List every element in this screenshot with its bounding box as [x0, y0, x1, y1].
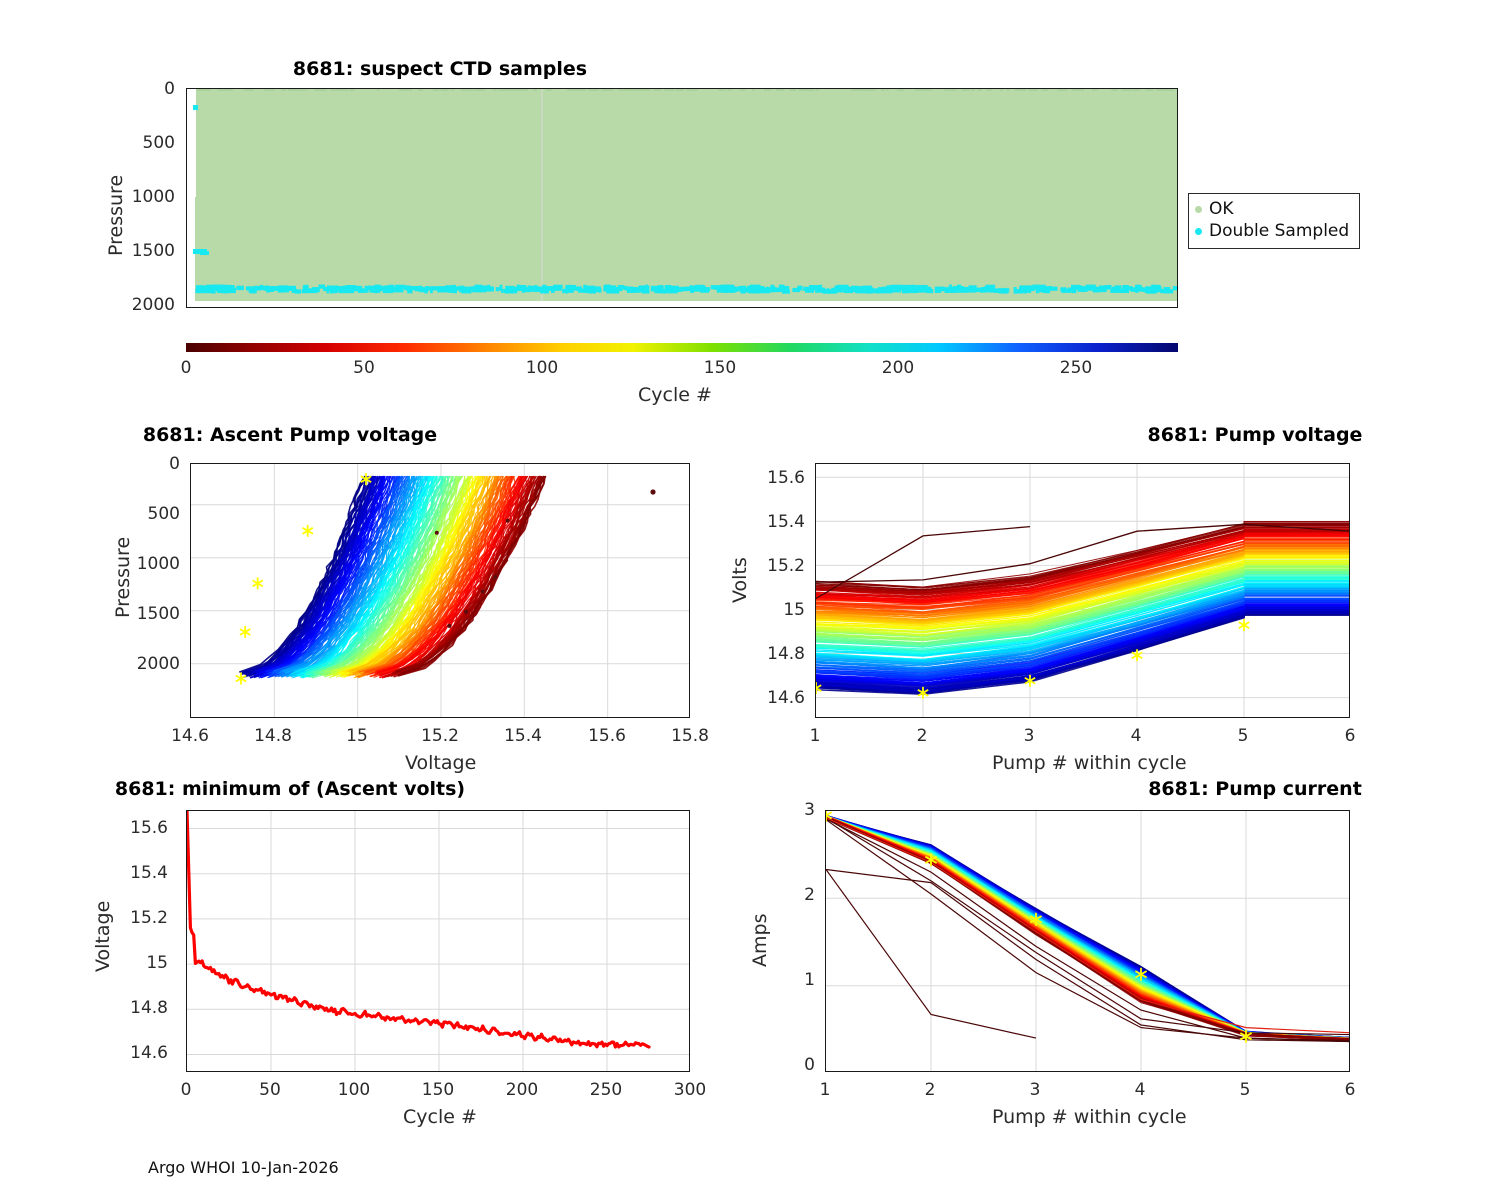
ctd-double-sampled-marker	[1094, 288, 1098, 292]
pumpcurrent-title: 8681: Pump current	[675, 778, 1500, 800]
ascent-xtick-146: 14.6	[160, 726, 220, 746]
ctd-double-sampled-marker	[583, 285, 587, 289]
minvolts-xlabel: Cycle #	[403, 1106, 477, 1128]
minvolts-ytick-146: 14.6	[98, 1043, 168, 1063]
figure-footer: Argo WHOI 10-Jan-2026	[148, 1158, 339, 1177]
ctd-double-sampled-marker	[645, 285, 647, 289]
ctd-double-sampled-marker	[882, 287, 887, 291]
minvolts-gridlines	[187, 811, 690, 1072]
ctd-surface-speckle	[498, 89, 503, 91]
ascent-stray-point	[435, 531, 439, 535]
ctd-double-sampled-marker	[798, 286, 803, 290]
figure-canvas: 8681: suspect CTD samples 0 500 1000 150…	[0, 0, 1500, 1200]
ctd-surface-speckle	[493, 89, 497, 91]
ctd-ylabel: Pressure	[105, 175, 127, 256]
ctd-double-sampled-marker	[891, 288, 894, 292]
ctd-double-sampled-marker	[369, 288, 376, 292]
minvolts-ytick-148: 14.8	[98, 998, 168, 1018]
pumpcurrent-xtick-4: 4	[1110, 1080, 1170, 1100]
ctd-surface-speckle	[886, 89, 888, 91]
ctd-surface-speckle	[218, 89, 225, 91]
minvolts-xtick-300: 300	[660, 1080, 720, 1100]
panel-pump-voltage: 8681: Pump voltage 15.6 15.4 15.2 15 14.…	[745, 418, 1500, 758]
ctd-double-sampled-marker	[562, 289, 568, 293]
ctd-surface-speckle	[1161, 89, 1167, 91]
ctd-double-sampled-marker	[202, 288, 213, 292]
ctd-surface-speckle	[246, 89, 254, 91]
ctd-double-sampled-marker	[1081, 288, 1085, 292]
ctd-surface-speckle	[264, 89, 267, 91]
ctd-double-sampled-marker	[1016, 289, 1022, 293]
ctd-surface-speckle	[634, 89, 640, 91]
ctd-surface-speckle	[418, 89, 423, 91]
ctd-double-sampled-marker	[382, 286, 386, 290]
ctd-surface-speckle	[1129, 89, 1133, 91]
ctd-surface-speckle	[640, 89, 647, 91]
ctd-surface-speckle	[799, 89, 803, 91]
ctd-surface-speckle	[1072, 89, 1079, 91]
ctd-double-sampled-marker	[747, 287, 750, 291]
pumpvolt-ytick-148: 14.8	[735, 644, 805, 664]
pumpvolt-asterisk-marker	[1239, 619, 1249, 631]
ctd-xtick-200: 200	[868, 358, 928, 378]
pumpvolt-xlabel: Pump # within cycle	[992, 752, 1187, 774]
ctd-double-sampled-marker	[912, 285, 917, 289]
ctd-double-sampled-marker	[661, 289, 671, 293]
ctd-colorbar-gradient	[186, 343, 1178, 352]
pumpvolt-xtick-6: 6	[1320, 726, 1380, 746]
ctd-surface-speckle	[946, 89, 953, 91]
ctd-double-sampled-marker	[1131, 288, 1138, 292]
ctd-double-sampled-marker	[413, 286, 420, 290]
ctd-surface-speckle	[623, 89, 628, 91]
ctd-plot-svg	[187, 89, 1178, 308]
pumpvolt-plot-svg	[816, 464, 1350, 718]
ascent-xtick-158: 15.8	[660, 726, 720, 746]
panel-ctd-title: 8681: suspect CTD samples	[0, 58, 1190, 80]
pumpcurrent-ytick-2: 2	[755, 885, 815, 905]
minvolts-ylabel: Voltage	[92, 901, 114, 972]
ctd-double-sampled-marker	[990, 288, 1001, 292]
legend-double-sampled-marker-icon	[1195, 228, 1202, 235]
ctd-surface-speckle	[676, 89, 684, 91]
ctd-double-sampled-marker	[684, 287, 691, 291]
ascent-ytick-0: 0	[118, 454, 180, 474]
ctd-double-sampled-marker	[1145, 286, 1153, 290]
ctd-surface-speckle	[654, 89, 661, 91]
ctd-double-sampled-marker	[309, 288, 313, 292]
ctd-double-sampled-marker	[1060, 287, 1066, 291]
ctd-surface-speckle	[444, 89, 446, 91]
ctd-left-gap-b	[187, 197, 192, 301]
ctd-double-sampled-marker	[292, 289, 297, 293]
ctd-surface-speckle	[399, 89, 405, 91]
legend-double-sampled-label: Double Sampled	[1209, 221, 1349, 241]
ctd-double-sampled-marker	[583, 289, 587, 293]
ctd-double-sampled-marker	[1115, 285, 1122, 289]
ctd-colorbar-svg	[186, 342, 1178, 353]
pumpvolt-title: 8681: Pump voltage	[675, 424, 1500, 446]
ctd-double-sampled-marker	[740, 286, 746, 290]
ctd-surface-speckle	[967, 89, 969, 91]
ctd-surface-speckle	[204, 89, 211, 91]
ctd-surface-speckle	[546, 89, 552, 91]
pumpvolt-ylabel: Volts	[729, 557, 751, 603]
ctd-double-sampled-marker	[913, 289, 917, 293]
ctd-surface-speckle	[270, 89, 275, 91]
ascent-ylabel: Pressure	[112, 537, 134, 618]
minvolts-xtick-150: 150	[408, 1080, 468, 1100]
pumpcurrent-curve	[826, 816, 1350, 1038]
pumpcurrent-curves	[826, 816, 1350, 1042]
pumpvolt-ytick-15: 15	[735, 600, 805, 620]
pumpcurrent-xtick-6: 6	[1320, 1080, 1380, 1100]
ctd-double-sampled-marker	[593, 287, 598, 291]
ctd-double-sampled-marker	[566, 285, 576, 289]
pumpvolt-xtick-5: 5	[1213, 726, 1273, 746]
ascent-xtick-152: 15.2	[410, 726, 470, 746]
ctd-ok-mass	[195, 89, 1178, 301]
ctd-surface-speckle	[503, 89, 510, 91]
ctd-surface-speckle	[1021, 89, 1026, 91]
ctd-double-sampled-marker	[236, 286, 244, 290]
ctd-surface-speckle	[764, 89, 771, 91]
minvolts-xtick-200: 200	[492, 1080, 552, 1100]
pumpcurrent-ylabel: Amps	[749, 914, 771, 967]
pumpvolt-ytick-154: 15.4	[735, 512, 805, 532]
ctd-double-sampled-marker	[354, 286, 363, 290]
ctd-surface-speckle	[687, 89, 693, 91]
ctd-surface-speckle	[987, 89, 992, 91]
ctd-double-sampled-marker	[637, 288, 643, 292]
legend-ok-marker-icon	[1195, 206, 1202, 213]
ctd-double-sampled-marker	[855, 289, 863, 293]
ascent-ytick-500: 500	[118, 504, 180, 524]
ctd-surface-speckle	[290, 89, 293, 91]
ctd-double-sampled-marker	[831, 288, 842, 292]
ctd-double-sampled-marker	[1045, 289, 1050, 293]
ctd-xtick-50: 50	[334, 358, 394, 378]
ctd-double-sampled-marker	[766, 287, 769, 291]
ctd-surface-speckle	[802, 89, 808, 91]
minvolts-series-line	[187, 811, 649, 1047]
ctd-surface-speckle	[351, 89, 355, 91]
ctd-surface-speckle	[404, 89, 412, 91]
ctd-double-sampled-marker	[365, 286, 369, 290]
ascent-outlier-point	[650, 489, 655, 494]
ctd-ytick-0: 0	[110, 79, 175, 99]
ascent-stray-point	[447, 624, 451, 628]
ctd-double-sampled-marker	[430, 289, 433, 293]
ctd-surface-speckle	[1114, 89, 1118, 91]
ctd-double-sampled-marker	[729, 289, 735, 293]
ctd-surface-speckle	[197, 89, 200, 91]
ctd-surface-speckle	[266, 89, 270, 91]
ctd-surface-speckle	[451, 89, 454, 91]
pumpcurrent-ytick-1: 1	[755, 970, 815, 990]
minvolts-ytick-156: 15.6	[98, 818, 168, 838]
ctd-double-sampled-marker	[783, 286, 789, 290]
ascent-asterisk-marker	[252, 577, 262, 589]
legend-ok-label: OK	[1209, 199, 1234, 219]
panel-pump-current: 8681: Pump current 3 2 1 0 Amps 1 2 3	[745, 772, 1500, 1122]
ctd-surface-speckle	[953, 89, 956, 91]
ctd-double-sampled-marker	[957, 285, 961, 289]
ctd-xtick-250: 250	[1046, 358, 1106, 378]
ctd-cyan-cluster-mid2	[200, 251, 209, 255]
ctd-surface-speckle	[777, 89, 781, 91]
ctd-surface-speckle	[1147, 89, 1151, 91]
ctd-surface-speckle	[718, 89, 725, 91]
ctd-surface-speckle	[1134, 89, 1138, 91]
ctd-double-sampled-marker	[312, 287, 319, 291]
ctd-surface-speckle	[897, 89, 904, 91]
ctd-double-sampled-marker	[496, 287, 500, 291]
ctd-double-sampled-marker	[938, 287, 946, 291]
ctd-surface-speckle	[297, 89, 304, 91]
ctd-double-sampled-marker	[405, 286, 410, 290]
ctd-surface-speckle	[1015, 89, 1020, 91]
pumpcurrent-ytick-3: 3	[755, 800, 815, 820]
ctd-double-sampled-marker	[528, 286, 531, 290]
ctd-surface-speckle	[727, 89, 731, 91]
pumpcurrent-anomalous-curve	[826, 820, 1350, 1041]
ctd-surface-speckle	[305, 89, 307, 91]
pumpvolt-ytick-156: 15.6	[735, 468, 805, 488]
ctd-double-sampled-marker	[511, 288, 515, 292]
ctd-double-sampled-marker	[448, 286, 452, 290]
legend-item-double-sampled[interactable]: Double Sampled	[1195, 220, 1351, 242]
ctd-ytick-500: 500	[110, 133, 175, 153]
ctd-double-sampled-marker	[1173, 286, 1178, 290]
ctd-xtick-150: 150	[690, 358, 750, 378]
ctd-surface-speckle	[790, 89, 795, 91]
ctd-double-sampled-marker	[700, 289, 709, 293]
ctd-surface-speckle	[281, 89, 286, 91]
ctd-double-sampled-marker	[946, 289, 951, 293]
pumpcurrent-xtick-2: 2	[900, 1080, 960, 1100]
ctd-surface-speckle	[1092, 89, 1098, 91]
ctd-double-sampled-marker	[249, 289, 255, 293]
ctd-surface-speckle	[522, 89, 529, 91]
ctd-surface-speckle	[915, 89, 917, 91]
panel-min-ascent-volts: 8681: minimum of (Ascent volts) 15.6 15.…	[0, 772, 740, 1122]
ctd-surface-speckle	[592, 89, 597, 91]
ctd-surface-speckle	[854, 89, 860, 91]
ctd-double-sampled-marker	[195, 289, 201, 293]
ctd-double-sampled-marker	[281, 288, 283, 292]
ctd-double-sampled-marker	[609, 286, 612, 290]
ctd-surface-speckle	[461, 89, 466, 91]
ctd-surface-speckle	[977, 89, 979, 91]
ctd-double-sampled-marker	[691, 289, 694, 293]
ctd-double-sampled-marker	[437, 286, 448, 290]
ctd-surface-speckle	[752, 89, 754, 91]
ctd-double-sampled-marker	[658, 285, 664, 289]
ctd-double-sampled-marker	[808, 287, 815, 291]
ascent-stray-point	[464, 610, 468, 614]
ctd-surface-speckle	[604, 89, 612, 91]
ctd-surface-speckle	[1151, 89, 1154, 91]
ctd-double-sampled-marker	[452, 288, 457, 292]
ctd-double-sampled-marker	[718, 285, 727, 289]
ctd-double-sampled-marker	[578, 288, 581, 292]
ascent-xtick-148: 14.8	[243, 726, 303, 746]
ctd-double-sampled-marker	[1001, 289, 1008, 293]
ctd-surface-speckle	[477, 89, 480, 91]
ctd-double-sampled-marker	[551, 289, 555, 293]
ctd-surface-speckle	[664, 89, 668, 91]
ctd-surface-speckle	[808, 89, 813, 91]
pumpcurrent-xtick-5: 5	[1215, 1080, 1275, 1100]
ctd-surface-speckle	[377, 89, 379, 91]
ctd-surface-speckle	[1000, 89, 1003, 91]
ctd-double-sampled-marker	[826, 289, 831, 293]
ctd-double-sampled-marker	[501, 289, 504, 293]
ctd-surface-speckle	[433, 89, 439, 91]
minvolts-plot-svg	[187, 811, 690, 1072]
ctd-surface-speckle	[321, 89, 327, 91]
ctd-double-sampled-marker	[1050, 287, 1058, 291]
ctd-double-sampled-marker	[323, 287, 331, 291]
minvolts-plot-area	[186, 810, 690, 1072]
ctd-double-sampled-marker	[1104, 285, 1106, 289]
ctd-surface-speckle	[925, 89, 932, 91]
ctd-xtick-100: 100	[512, 358, 572, 378]
ctd-double-sampled-marker	[395, 285, 405, 289]
ctd-double-sampled-marker	[1033, 285, 1040, 289]
pumpvolt-plot-area	[815, 463, 1350, 718]
ctd-double-sampled-marker	[425, 286, 428, 290]
ctd-double-sampled-marker	[335, 286, 344, 290]
minvolts-xtick-100: 100	[324, 1080, 384, 1100]
ctd-surface-speckle	[582, 89, 587, 91]
ascent-stray-point	[493, 575, 497, 579]
ascent-plot-svg	[191, 464, 690, 718]
ascent-asterisk-marker	[240, 626, 250, 638]
pumpvolt-xtick-3: 3	[999, 726, 1059, 746]
ctd-surface-speckle	[466, 89, 473, 91]
ctd-surface-speckle	[1122, 89, 1129, 91]
ctd-surface-speckle	[962, 89, 968, 91]
ascent-stray-point	[481, 590, 485, 594]
minvolts-xtick-0: 0	[156, 1080, 216, 1100]
ctd-surface-speckle	[1167, 89, 1175, 91]
pumpvolt-xtick-4: 4	[1106, 726, 1166, 746]
ctd-surface-speckle	[864, 89, 870, 91]
ctd-double-sampled-marker	[375, 285, 381, 289]
ctd-double-sampled-marker	[267, 287, 275, 291]
ctd-double-sampled-marker	[754, 286, 765, 290]
ctd-double-sampled-marker	[714, 286, 719, 290]
ctd-double-sampled-marker	[388, 286, 393, 290]
ctd-ytick-2000: 2000	[110, 295, 175, 315]
ctd-surface-speckle	[881, 89, 885, 91]
ascent-plot-area	[190, 463, 690, 718]
pumpcurrent-xtick-3: 3	[1005, 1080, 1065, 1100]
ctd-surface-speckle	[816, 89, 820, 91]
ctd-double-sampled-marker	[1168, 288, 1170, 292]
ctd-double-sampled-marker	[901, 287, 907, 291]
legend-item-ok[interactable]: OK	[1195, 198, 1351, 220]
ctd-double-sampled-marker	[1152, 288, 1160, 292]
ctd-double-sampled-marker	[469, 287, 479, 291]
ctd-double-sampled-marker	[1084, 287, 1093, 291]
ctd-double-sampled-marker	[589, 288, 593, 292]
ctd-xlabel: Cycle #	[638, 384, 712, 406]
ctd-surface-speckle	[224, 89, 228, 91]
ctd-plot-area	[186, 88, 1178, 308]
ctd-double-sampled-marker	[224, 286, 235, 290]
ctd-double-sampled-marker	[628, 289, 632, 293]
minvolts-ytick-154: 15.4	[98, 863, 168, 883]
ctd-cycle-colorbar	[186, 342, 1178, 353]
ctd-surface-speckle	[740, 89, 746, 91]
ctd-double-sampled-marker	[459, 288, 462, 292]
minvolts-xtick-50: 50	[240, 1080, 300, 1100]
ctd-surface-speckle	[1007, 89, 1009, 91]
ctd-surface-speckle	[693, 89, 697, 91]
panel-ctd-samples: 8681: suspect CTD samples 0 500 1000 150…	[0, 46, 1500, 406]
pumpvolt-xtick-1: 1	[785, 726, 845, 746]
ctd-legend: OK Double Sampled	[1188, 193, 1360, 249]
pumpcurrent-plot-svg	[826, 811, 1350, 1072]
ctd-surface-speckle	[337, 89, 344, 91]
pumpvolt-curves	[816, 522, 1350, 695]
ctd-surface-speckle	[1029, 89, 1034, 91]
ctd-double-sampled-marker	[538, 287, 546, 291]
ctd-double-sampled-marker	[1071, 285, 1079, 289]
ctd-surface-speckle	[1061, 89, 1066, 91]
ctd-double-sampled-marker	[614, 287, 623, 291]
ctd-double-sampled-marker	[676, 288, 679, 292]
ctd-surface-speckle	[572, 89, 579, 91]
ctd-surface-speckle	[851, 89, 854, 91]
ctd-double-sampled-marker	[974, 288, 982, 292]
ascent-xlabel: Voltage	[405, 752, 476, 774]
pumpcurrent-ytick-0: 0	[755, 1055, 815, 1075]
ctd-surface-speckle	[533, 89, 537, 91]
pumpvolt-ytick-146: 14.6	[735, 688, 805, 708]
ascent-profile-curves	[239, 476, 546, 678]
ctd-double-sampled-marker	[955, 288, 960, 292]
ascent-xtick-15: 15	[327, 726, 387, 746]
pumpvolt-xtick-2: 2	[892, 726, 952, 746]
pumpcurrent-plot-area	[825, 810, 1350, 1072]
ctd-double-sampled-marker	[817, 285, 822, 289]
ctd-double-sampled-marker	[695, 285, 704, 289]
ascent-xtick-156: 15.6	[577, 726, 637, 746]
ctd-surface-speckle	[515, 89, 522, 91]
pumpcurrent-xtick-1: 1	[795, 1080, 855, 1100]
ctd-surface-speckle	[861, 89, 864, 91]
ctd-double-sampled-marker	[1021, 286, 1031, 290]
ascent-stray-point	[506, 519, 510, 523]
ctd-double-sampled-marker	[488, 287, 492, 291]
ctd-double-sampled-marker	[773, 288, 782, 292]
ascent-xtick-154: 15.4	[493, 726, 553, 746]
ctd-surface-speckle	[945, 89, 948, 91]
ctd-double-sampled-marker	[256, 286, 261, 290]
ctd-surface-speckle	[568, 89, 573, 91]
ctd-double-sampled-marker	[349, 289, 354, 293]
ctd-double-sampled-marker	[908, 289, 912, 293]
ctd-double-sampled-marker	[624, 286, 627, 290]
ctd-surface-speckle	[971, 89, 974, 91]
minvolts-xtick-250: 250	[576, 1080, 636, 1100]
ascent-asterisk-marker	[302, 525, 312, 537]
ctd-double-sampled-marker	[303, 285, 308, 289]
